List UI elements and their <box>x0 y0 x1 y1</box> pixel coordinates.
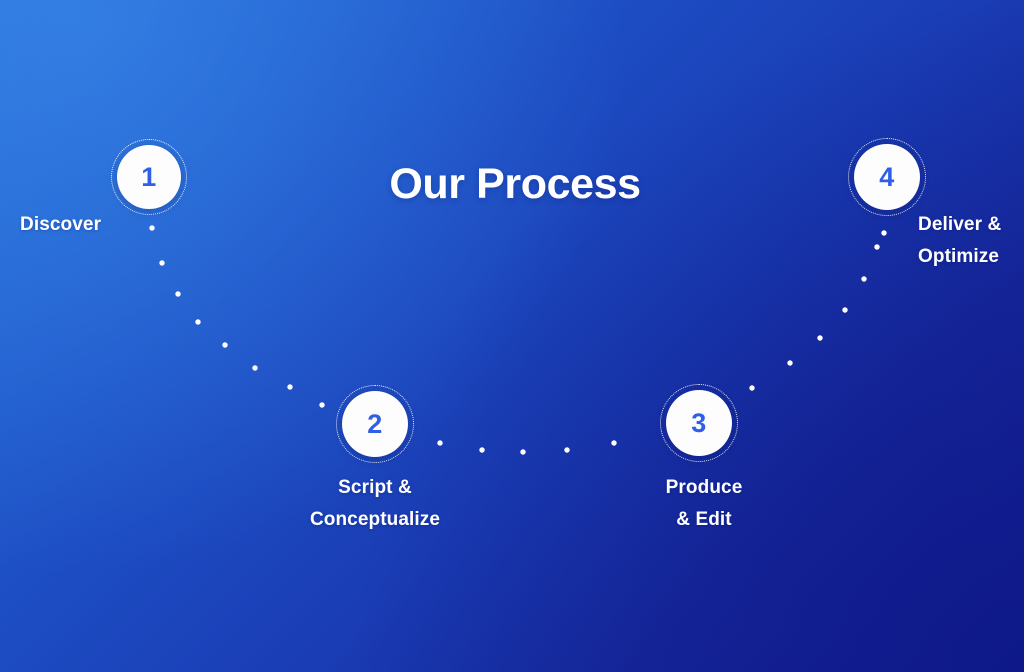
step-label-1: Discover <box>20 209 101 241</box>
path-dot <box>881 230 886 235</box>
step-ring-4: 4 <box>848 138 926 216</box>
dotted-connector-path <box>0 0 1024 672</box>
path-dot <box>175 291 180 296</box>
path-dot <box>252 365 257 370</box>
process-diagram-canvas: Our Process 1234 DiscoverScript & Concep… <box>0 0 1024 672</box>
step-disc-2: 2 <box>342 391 408 457</box>
path-dot <box>149 225 154 230</box>
step-disc-1: 1 <box>117 145 181 209</box>
path-dot <box>159 260 164 265</box>
path-dot <box>287 384 292 389</box>
path-dot <box>319 402 324 407</box>
step-node-1[interactable]: 1 <box>111 139 187 215</box>
path-dot <box>874 244 879 249</box>
path-dot <box>195 319 200 324</box>
step-ring-2: 2 <box>336 385 414 463</box>
step-node-3[interactable]: 3 <box>660 384 738 462</box>
step-node-2[interactable]: 2 <box>336 385 414 463</box>
step-number-2: 2 <box>367 411 383 438</box>
path-dot <box>787 360 792 365</box>
path-dot <box>437 440 442 445</box>
step-ring-3: 3 <box>660 384 738 462</box>
path-dot <box>479 447 484 452</box>
step-disc-4: 4 <box>854 144 920 210</box>
path-dot <box>861 276 866 281</box>
step-label-4: Deliver & Optimize <box>918 209 1001 273</box>
path-dot <box>564 447 569 452</box>
path-dot <box>520 449 525 454</box>
path-dot <box>222 342 227 347</box>
step-number-3: 3 <box>691 410 707 437</box>
path-dot <box>749 385 754 390</box>
page-title: Our Process <box>389 160 640 209</box>
path-dot <box>842 307 847 312</box>
step-disc-3: 3 <box>666 390 732 456</box>
path-dot <box>817 335 822 340</box>
step-label-3: Produce & Edit <box>666 472 743 536</box>
step-number-1: 1 <box>141 164 157 191</box>
step-number-4: 4 <box>879 164 895 191</box>
step-ring-1: 1 <box>111 139 187 215</box>
step-label-2: Script & Conceptualize <box>310 472 440 536</box>
step-node-4[interactable]: 4 <box>848 138 926 216</box>
path-dot <box>611 440 616 445</box>
